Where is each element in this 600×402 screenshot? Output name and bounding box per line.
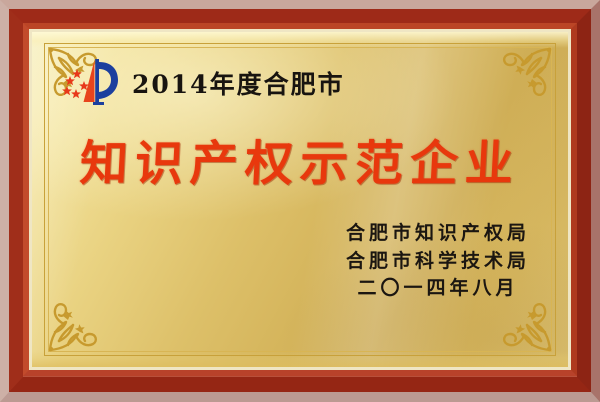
issuer-line-1: 合肥市知识产权局	[342, 220, 530, 248]
hefei-ip-sail-logo-icon	[60, 56, 124, 112]
plaque-content: 2014年度合肥市 知识产权示范企业 合肥市知识产权局 合肥市科学技术局 二〇一…	[32, 32, 568, 367]
award-title: 知识产权示范企业	[32, 140, 568, 188]
gold-panel: 2014年度合肥市 知识产权示范企业 合肥市知识产权局 合肥市科学技术局 二〇一…	[32, 32, 568, 367]
issuer-block: 合肥市知识产权局 合肥市科学技术局 二〇一四年八月	[342, 220, 530, 303]
header-row: 2014年度合肥市	[60, 56, 345, 112]
year-heading: 2014年度合肥市	[132, 72, 345, 97]
award-plaque: 2014年度合肥市 知识产权示范企业 合肥市知识产权局 合肥市科学技术局 二〇一…	[0, 0, 600, 402]
issuer-line-2: 合肥市科学技术局	[342, 248, 530, 276]
issue-date: 二〇一四年八月	[342, 275, 530, 303]
